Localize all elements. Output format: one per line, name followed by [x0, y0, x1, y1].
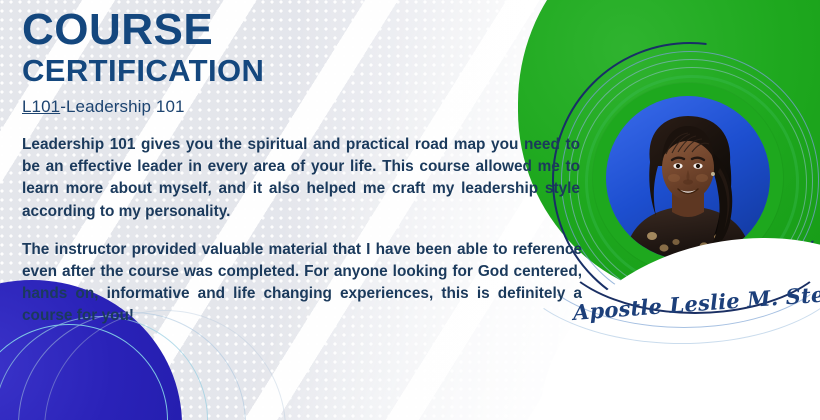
page-title: COURSE — [22, 8, 582, 51]
content-column: COURSE CERTIFICATION L101-Leadership 101… — [22, 8, 582, 327]
certification-card: COURSE CERTIFICATION L101-Leadership 101… — [0, 0, 820, 420]
course-name: -Leadership 101 — [60, 97, 184, 116]
course-code: L101 — [22, 97, 60, 116]
testimonial-paragraph-1: Leadership 101 gives you the spiritual a… — [22, 134, 580, 223]
course-identifier: L101-Leadership 101 — [22, 97, 582, 117]
page-subtitle: CERTIFICATION — [22, 55, 582, 86]
testimonial-paragraph-2: The instructor provided valuable materia… — [22, 239, 582, 328]
